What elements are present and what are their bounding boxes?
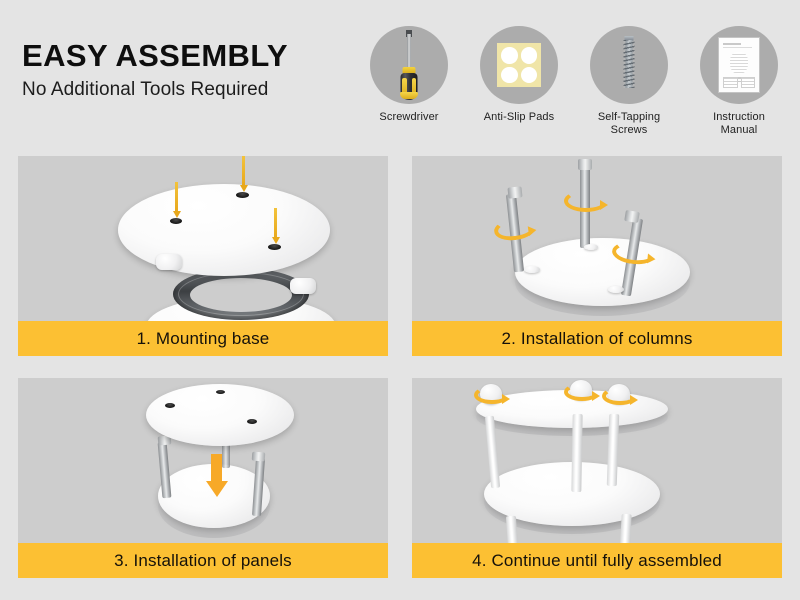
top-disc (118, 184, 330, 276)
page-title: EASY ASSEMBLY (22, 40, 362, 73)
tool-label-line-2: Manual (721, 124, 758, 136)
step-illustration-3 (18, 378, 388, 543)
mount-bracket (156, 254, 182, 270)
assembly-arrow (242, 156, 245, 186)
rotation-arrow (493, 215, 538, 243)
tool-item-screwdriver: Screwdriver (360, 26, 458, 146)
step-illustration-1 (18, 156, 388, 321)
title-block: EASY ASSEMBLY No Additional Tools Requir… (22, 40, 362, 101)
screw-icon (590, 26, 668, 104)
screw-hole (247, 419, 257, 424)
tool-label-line-1: Self-Tapping (598, 111, 660, 123)
tool-label-self-tapping-screws: Self-Tapping Screws (598, 111, 660, 136)
tool-label-instruction-manual: Instruction Manual (713, 111, 765, 136)
screwdriver-icon (370, 26, 448, 104)
mount-bracket (290, 278, 316, 294)
tool-label-anti-slip-pads: Anti-Slip Pads (484, 111, 555, 124)
base-disc (515, 238, 690, 306)
tool-label-line-2: Screws (611, 124, 648, 136)
step-panel-2: 2. Installation of columns (412, 156, 782, 356)
tool-label-screwdriver: Screwdriver (379, 111, 438, 124)
step-illustration-2 (412, 156, 782, 321)
step-panel-1: 1. Mounting base (18, 156, 388, 356)
screw-hole (216, 390, 225, 394)
tools-list: Screwdriver Anti-Slip Pads Sel (360, 26, 788, 146)
header: EASY ASSEMBLY No Additional Tools Requir… (0, 0, 800, 150)
steps-grid: 1. Mounting base 2. Installation of colu… (18, 156, 782, 578)
manual-icon (700, 26, 778, 104)
screw-hole (268, 244, 281, 250)
assembly-arrow (175, 182, 178, 212)
anti-slip-pads-icon (480, 26, 558, 104)
rotation-arrow (474, 386, 510, 404)
rotation-arrow (564, 383, 600, 401)
step-caption-2: 2. Installation of columns (412, 321, 782, 356)
step-caption-3: 3. Installation of panels (18, 543, 388, 578)
screw-hole (170, 218, 182, 224)
step-panel-3: 3. Installation of panels (18, 378, 388, 578)
screw-hole (165, 403, 175, 408)
rotation-arrow (602, 387, 638, 405)
tool-item-instruction-manual: Instruction Manual (690, 26, 788, 146)
step-caption-4: 4. Continue until fully assembled (412, 543, 782, 578)
insert-arrow (211, 454, 222, 482)
screw-hole (236, 192, 249, 198)
tool-item-anti-slip-pads: Anti-Slip Pads (470, 26, 568, 146)
step-panel-4: 4. Continue until fully assembled (412, 378, 782, 578)
tool-label-line-1: Instruction (713, 111, 765, 123)
page-subtitle: No Additional Tools Required (22, 79, 362, 101)
tool-item-self-tapping-screws: Self-Tapping Screws (580, 26, 678, 146)
assembly-arrow (274, 208, 277, 238)
step-illustration-4 (412, 378, 782, 543)
rotation-arrow (564, 190, 608, 212)
table-leg (571, 414, 582, 492)
step-caption-1: 1. Mounting base (18, 321, 388, 356)
